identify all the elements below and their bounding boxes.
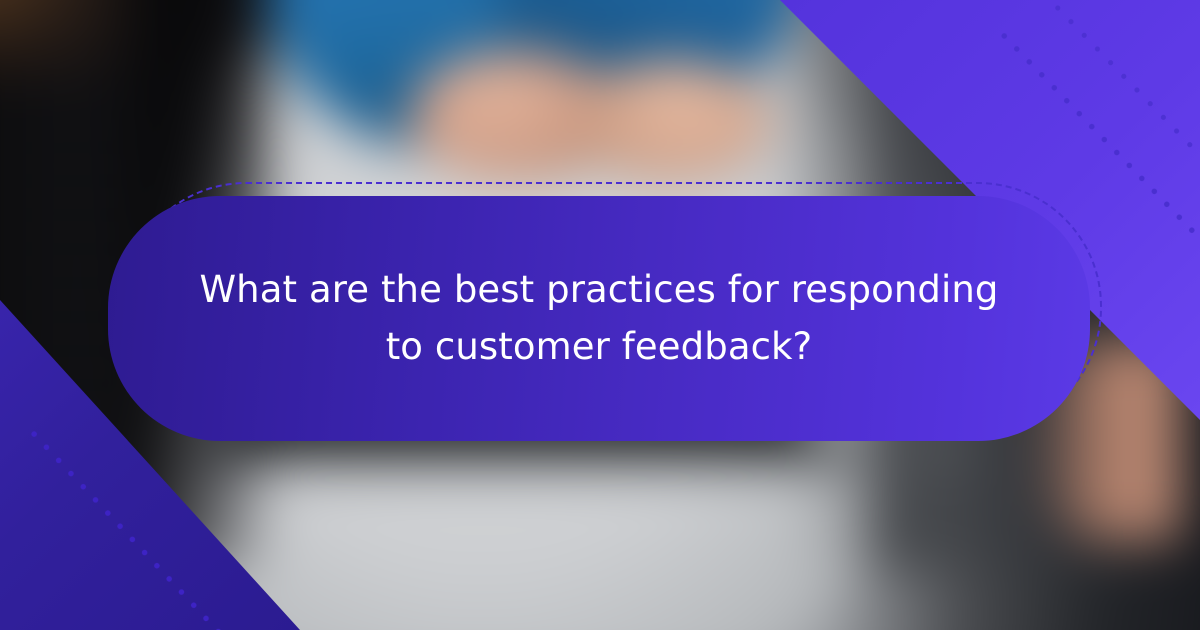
background-laptop-base — [190, 440, 850, 466]
background-warm-highlight — [0, 0, 130, 80]
question-card: What are the best practices for respondi… — [108, 196, 1090, 441]
og-card-canvas: What are the best practices for respondi… — [0, 0, 1200, 630]
background-hand-right — [580, 60, 770, 180]
question-title: What are the best practices for respondi… — [199, 262, 999, 374]
